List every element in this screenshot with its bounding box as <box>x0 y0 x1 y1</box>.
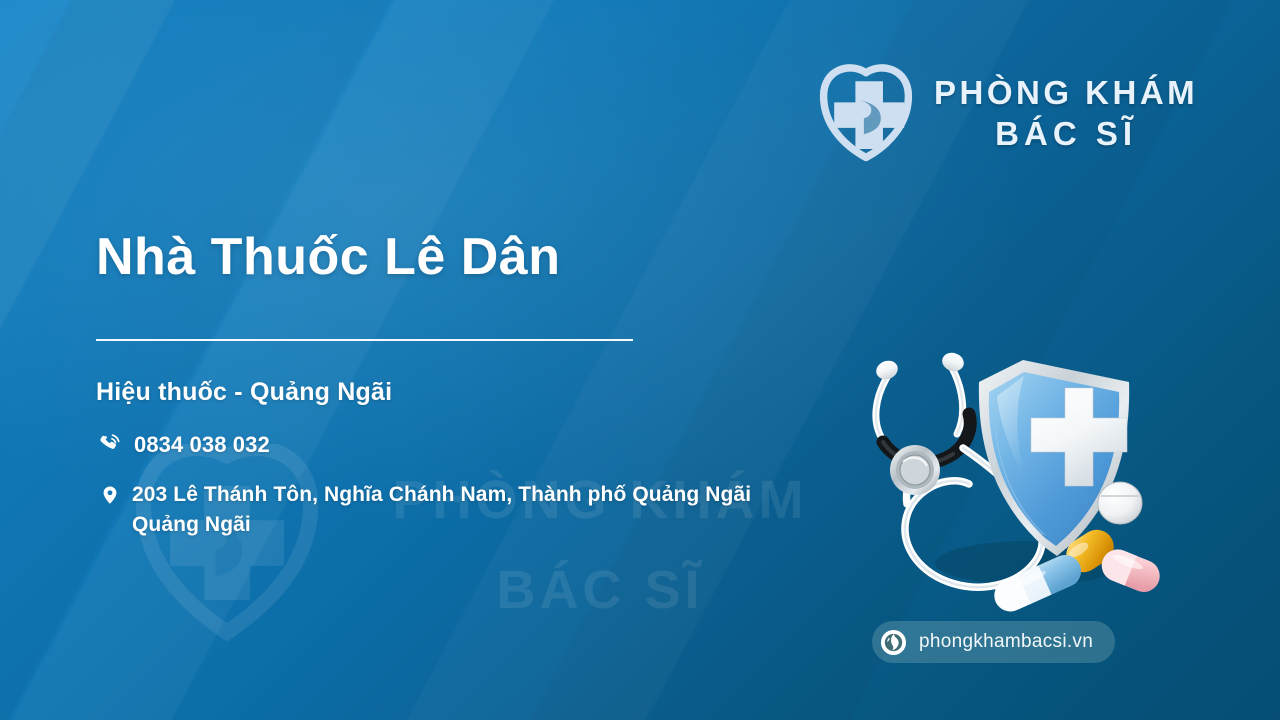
stethoscope-eartip-left <box>873 358 900 383</box>
brand-logo: PHÒNG KHÁM BÁC SĨ <box>812 58 1184 168</box>
stethoscope-chestpiece <box>890 445 940 495</box>
phone-number: 0834 038 032 <box>134 429 270 461</box>
address-row: 203 Lê Thánh Tôn, Nghĩa Chánh Nam, Thành… <box>96 480 896 542</box>
address-text: 203 Lê Thánh Tôn, Nghĩa Chánh Nam, Thành… <box>132 480 751 542</box>
address-line-1: 203 Lê Thánh Tôn, Nghĩa Chánh Nam, Thành… <box>132 483 751 506</box>
stethoscope-eartip-right <box>940 350 966 374</box>
location-pin-icon <box>100 482 120 508</box>
pharmacy-info-banner: PHÒNG KHÁM BÁC SĨ PHÒNG KHÁM BÁC SĨ Nhà … <box>0 0 1280 720</box>
brand-line-1: PHÒNG KHÁM <box>934 76 1198 111</box>
title-divider <box>96 339 633 341</box>
globe-icon <box>880 629 907 656</box>
address-line-2: Quảng Ngãi <box>132 513 251 536</box>
medical-cross-heart-icon <box>812 60 920 166</box>
page-title: Nhà Thuốc Lê Dân <box>96 228 896 286</box>
website-badge[interactable]: phongkhambacsi.vn <box>872 621 1115 663</box>
brand-wordmark: PHÒNG KHÁM BÁC SĨ <box>934 74 1198 152</box>
shield-with-white-cross <box>979 360 1129 556</box>
pharmacy-subtitle: Hiệu thuốc - Quảng Ngãi <box>96 378 896 407</box>
phone-call-icon <box>96 431 122 457</box>
pharmacy-info-block: Nhà Thuốc Lê Dân Hiệu thuốc - Quảng Ngãi… <box>96 228 896 541</box>
medical-shield-stethoscope-pills-illustration <box>845 318 1185 618</box>
phone-row: 0834 038 032 <box>96 429 896 461</box>
brand-line-2: BÁC SĨ <box>995 117 1137 152</box>
website-url: phongkhambacsi.vn <box>919 631 1093 653</box>
